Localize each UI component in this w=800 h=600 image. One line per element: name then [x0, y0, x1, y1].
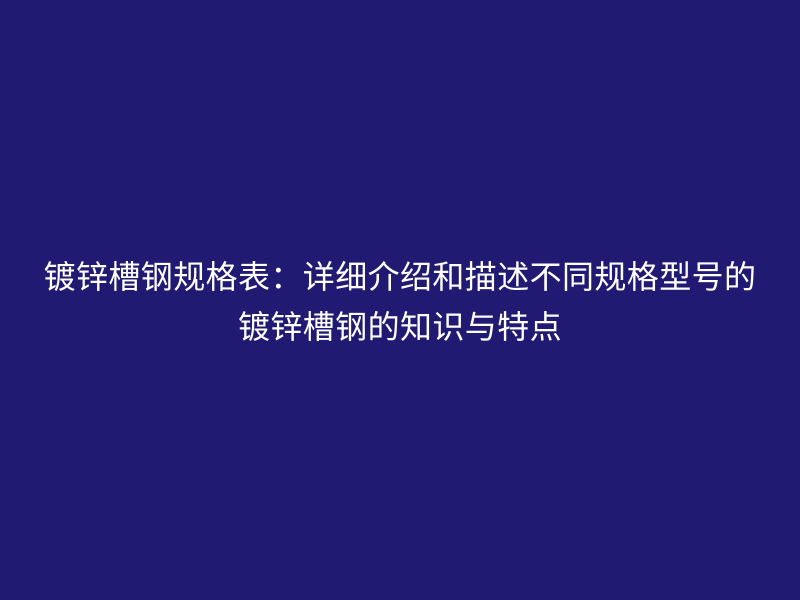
page-title: 镀锌槽钢规格表：详细介绍和描述不同规格型号的 镀锌槽钢的知识与特点	[40, 252, 760, 352]
page-title-line-1: 镀锌槽钢规格表：详细介绍和描述不同规格型号的	[40, 252, 760, 302]
title-card: 镀锌槽钢规格表：详细介绍和描述不同规格型号的 镀锌槽钢的知识与特点	[0, 0, 800, 600]
page-title-line-2: 镀锌槽钢的知识与特点	[40, 302, 760, 352]
